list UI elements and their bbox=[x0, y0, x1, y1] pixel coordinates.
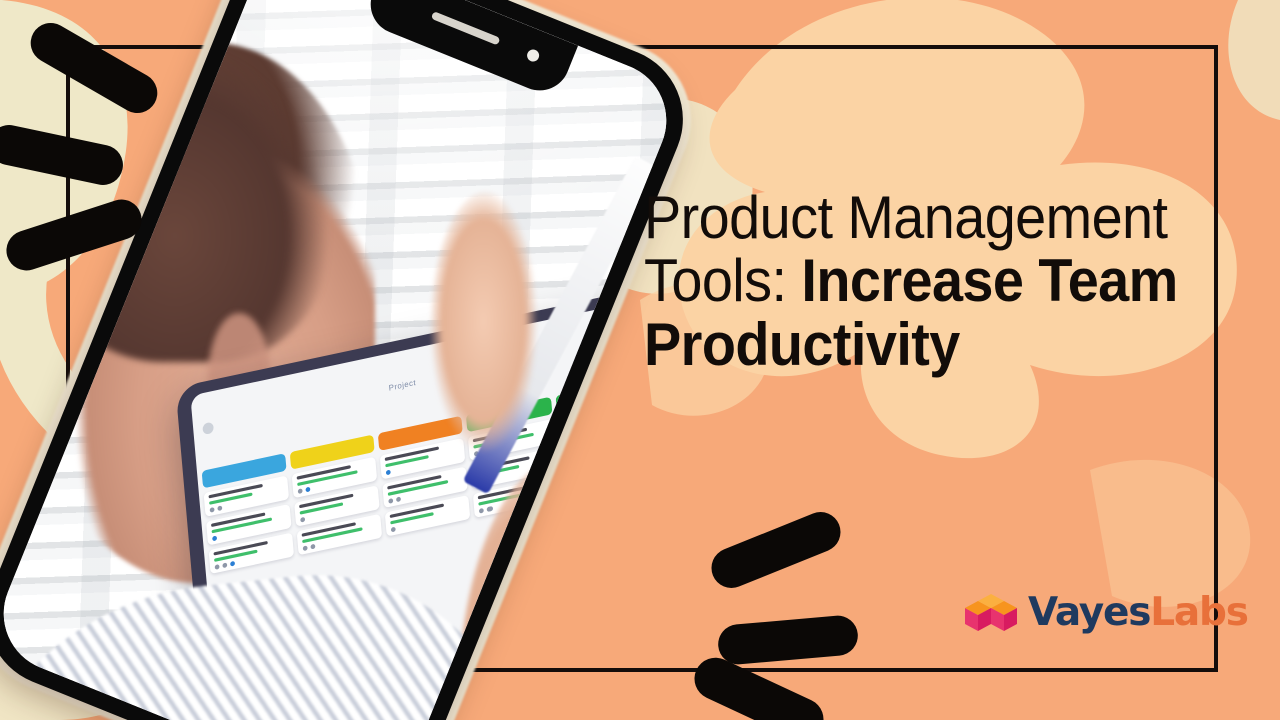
front-camera-icon bbox=[525, 48, 541, 64]
headline-line-1: Product Management bbox=[644, 186, 1193, 249]
earpiece-speaker-icon bbox=[431, 11, 501, 45]
headline-regular-part: Tools: bbox=[644, 247, 801, 314]
person-hand-upper bbox=[430, 191, 541, 461]
menu-icon bbox=[202, 421, 214, 434]
brand-logo-text: VayesLabs bbox=[1028, 593, 1248, 632]
brand-name-primary: Vayes bbox=[1028, 590, 1150, 635]
headline-line-3: Productivity bbox=[644, 313, 1193, 376]
brand-name-secondary: Labs bbox=[1150, 590, 1248, 635]
headline-bold-part: Increase Team bbox=[801, 247, 1177, 314]
headline-line-2: Tools: Increase Team bbox=[644, 249, 1193, 312]
brand-logo[interactable]: VayesLabs bbox=[963, 592, 1248, 632]
poster-canvas: Project bbox=[0, 0, 1280, 720]
board-app-title: Project bbox=[388, 379, 416, 394]
vayeslabs-mark-icon bbox=[963, 592, 1019, 632]
cream-blob-right-edge bbox=[1228, 0, 1280, 120]
page-title: Product Management Tools: Increase Team … bbox=[644, 186, 1193, 376]
